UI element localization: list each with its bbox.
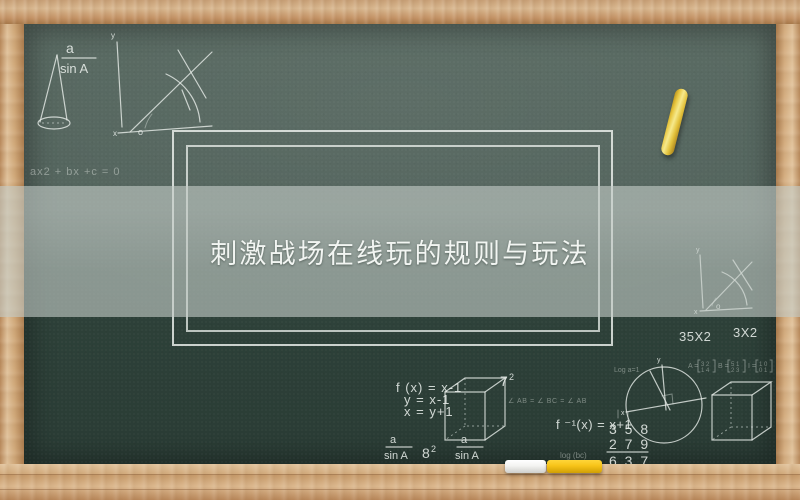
ledge-edge-line (0, 489, 800, 490)
chalk-yellow-ledge (547, 460, 602, 473)
page-title: 刺激战场在线玩的规则与玩法 (0, 186, 800, 317)
ledge-groove-line (0, 474, 800, 475)
frame-top-rail (0, 0, 800, 24)
chalkboard-title-card: a sin A y x o ax2 + bx +c = 0 y x (0, 0, 800, 500)
chalk-white-ledge (505, 460, 546, 473)
chalk-ledge (0, 464, 800, 500)
